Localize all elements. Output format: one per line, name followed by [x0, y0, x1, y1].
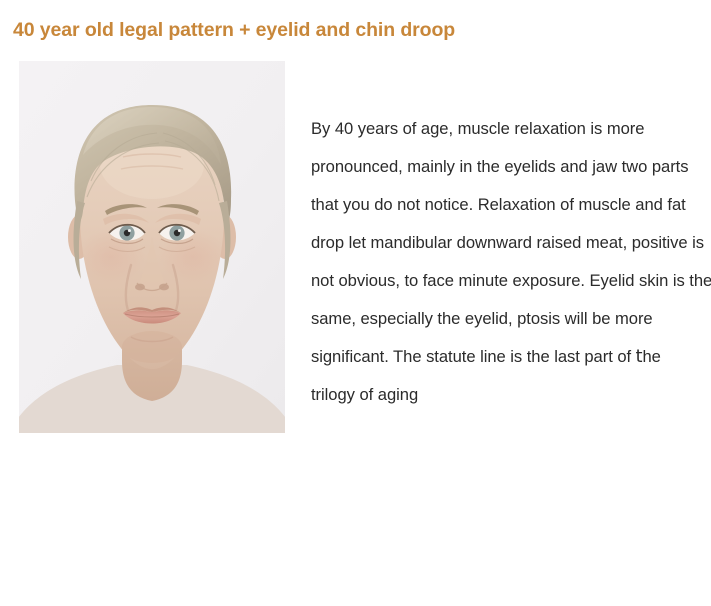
page-title: 40 year old legal pattern + eyelid and c… [13, 18, 693, 42]
body-line: that you do not notice. Relaxation of mu… [311, 186, 707, 224]
body-line: By 40 years of age, muscle relaxation is… [311, 110, 707, 148]
portrait-photo [19, 61, 285, 433]
body-line-mixed-glyph: significant. The statute line is the las… [311, 338, 707, 376]
body-line: pronounced, mainly in the eyelids and ja… [311, 148, 707, 186]
body-line: not obvious, to face minute exposure. Ey… [311, 262, 707, 300]
body-line-segment-after: he [643, 347, 661, 366]
body-line: drop let mandibular downward raised meat… [311, 224, 707, 262]
body-line: trilogy of aging [311, 376, 707, 414]
article-body: By 40 years of age, muscle relaxation is… [311, 110, 707, 414]
body-line-segment-before: significant. The statute line is the las… [311, 347, 636, 366]
woman-face-illustration [19, 61, 285, 433]
body-line: same, especially the eyelid, ptosis will… [311, 300, 707, 338]
body-line-segment-emphasized: t [636, 347, 643, 367]
